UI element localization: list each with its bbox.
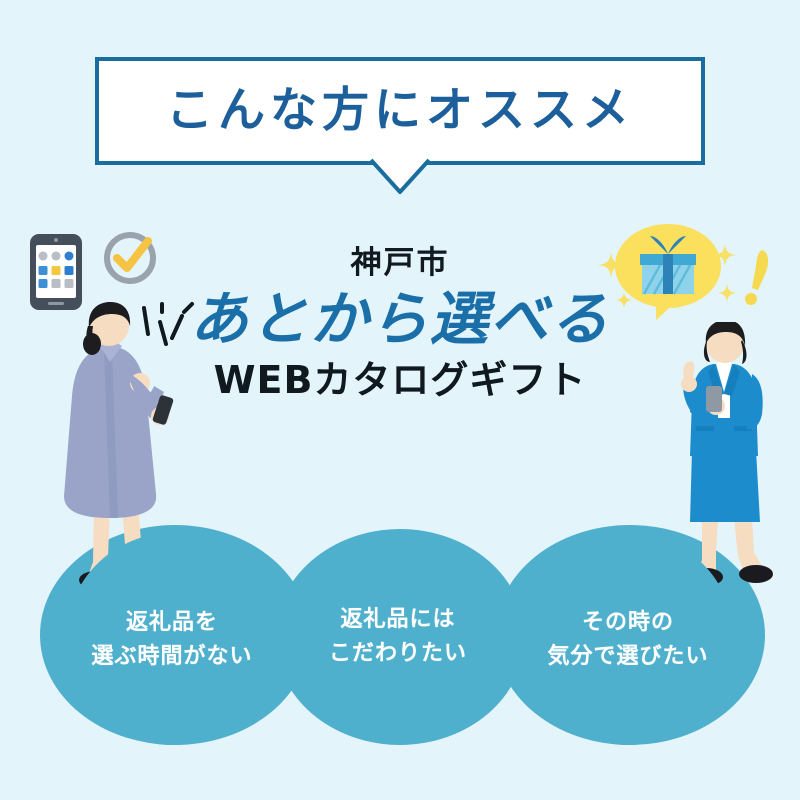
benefit-circle-1[interactable]: 返礼品を 選ぶ時間がない	[66, 533, 278, 745]
headline-block: 神戸市 あとから選べる WEBカタログギフト	[0, 248, 800, 399]
exclamation-mark-icon	[740, 248, 780, 310]
promo-banner-page: こんな方にオススメ 神戸市 あとから選べる WEBカタログギフト 返礼品を 選ぶ…	[0, 0, 800, 800]
check-circle-icon	[99, 227, 161, 289]
sparkle-icon	[614, 290, 634, 310]
benefit-circle-2[interactable]: 返礼品には こだわりたい	[295, 533, 501, 739]
gift-speech-bubble-icon	[612, 222, 724, 322]
headline-city: 神戸市	[0, 248, 800, 279]
banner-pointer-icon	[371, 160, 429, 194]
benefit-circle-1-label: 返礼品を 選ぶ時間がない	[91, 605, 252, 673]
benefit-circle-3[interactable]: その時の 気分で選びたい	[522, 533, 734, 745]
benefit-circle-2-label: 返礼品には こだわりたい	[329, 602, 467, 670]
recommendation-banner: こんな方にオススメ	[95, 57, 705, 165]
headline-sub: WEBカタログギフト	[0, 361, 800, 399]
banner-title: こんな方にオススメ	[166, 87, 634, 134]
smartphone-app-grid-icon	[28, 232, 84, 312]
benefit-circle-3-label: その時の 気分で選びたい	[547, 605, 708, 673]
headline-main: あとから選べる	[0, 288, 800, 351]
sparkle-icon	[596, 250, 626, 280]
excitement-lines-icon	[132, 300, 212, 370]
sparkle-icon	[712, 242, 738, 268]
sparkle-icon	[716, 282, 738, 304]
